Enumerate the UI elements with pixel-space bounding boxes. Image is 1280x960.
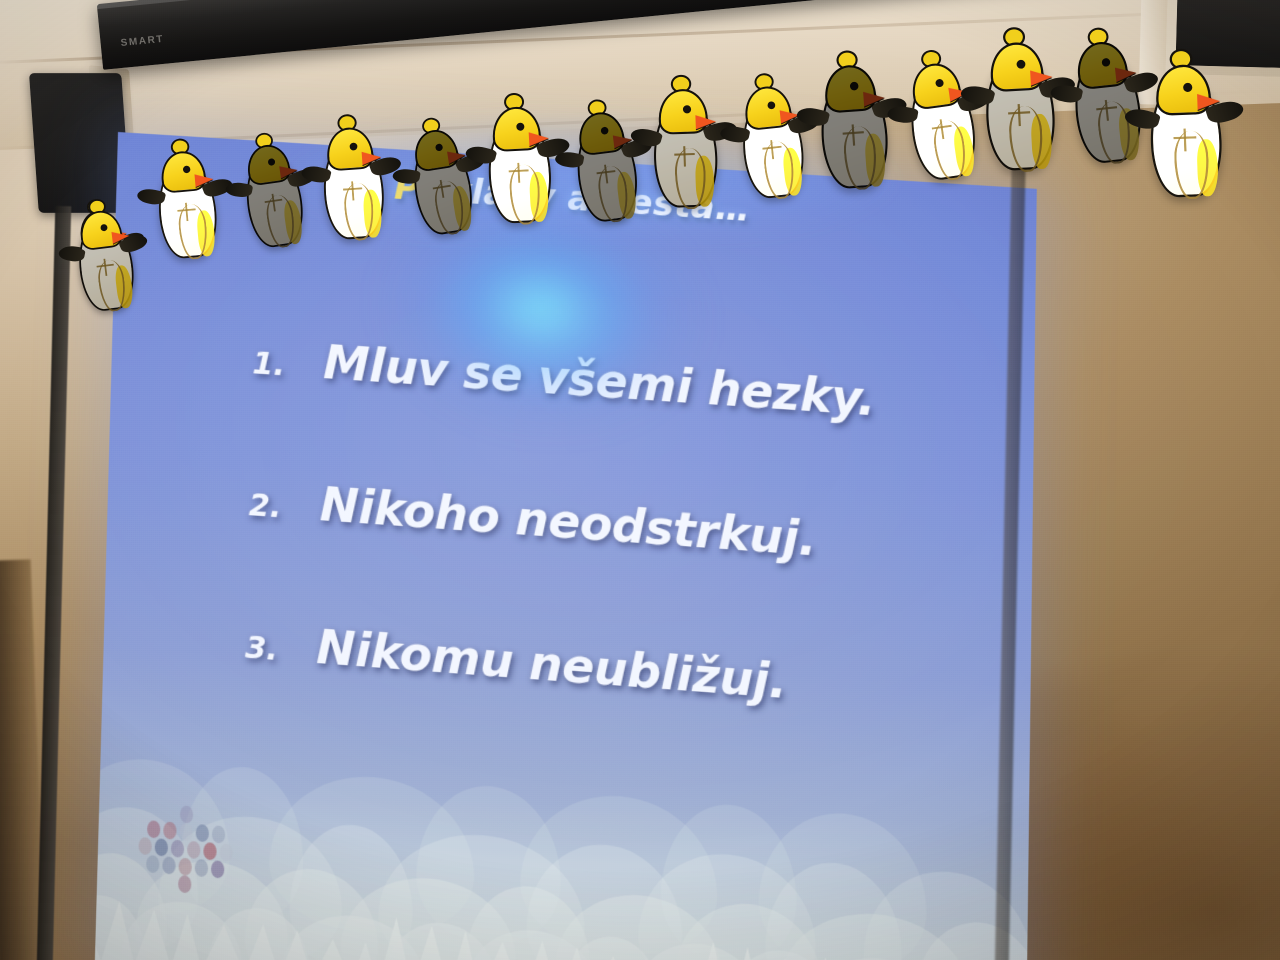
list-item-text: Nikomu neubližuj. [316,619,787,709]
cloud-blob [805,953,948,960]
logo-dot [187,841,201,859]
cloud-blob [340,872,517,960]
logo-dot [196,824,210,842]
cloud-blob [632,939,764,960]
cloud-blob [554,889,722,960]
list-item: 1. Mluv se všemi hezky. [252,330,972,433]
logo-dot [180,805,194,823]
cloud-blob [268,769,476,940]
cloud-blob [465,925,601,960]
logo-dot [171,839,185,857]
cloud-blob [758,807,928,960]
cloud-blob [637,848,817,960]
cloud-blob [244,864,380,960]
cloud-blob [289,820,415,960]
logo-dot [146,855,160,873]
logo-dot [163,821,177,839]
cloud-blob [674,898,822,960]
cloud-blob [765,858,903,960]
logo-dot [178,858,192,877]
list-item: 2. Nikoho neodstrkuj. [248,471,969,577]
ceiling-mounted-monitor [1134,0,1280,110]
slide-title-accent: Pří [394,167,449,211]
monitor-panel [1165,0,1280,77]
dot-diamond-logo [137,796,252,918]
logo-dot [219,843,233,862]
logo-dot [178,875,192,894]
cloud-blob [377,827,586,960]
logo-dot [203,842,217,860]
slide-rules-list: 1. Mluv se všemi hezky. 2. Nikoho neodst… [245,330,972,723]
logo-dot [147,820,161,838]
list-item-text: Mluv se všemi hezky. [323,335,876,427]
logo-dot [212,825,226,843]
cloud-blob [519,789,719,960]
projection-screen: Příklady a gesta… 1. Mluv se všemi hezky… [95,132,1037,960]
slide-title-rest: klady a gesta… [448,171,751,231]
cloud-blob [280,910,426,960]
logo-dot [155,838,169,856]
cloud-blob [525,839,683,960]
list-item-number: 2. [248,488,297,527]
logo-dot [195,859,209,878]
logo-dot [179,823,193,841]
presentation-slide: Příklady a gesta… 1. Mluv se všemi hezky… [95,132,1037,960]
cloud-blob [415,781,562,947]
cloud-blob [660,800,798,960]
cloud-blob [561,933,662,960]
list-item-number: 1. [252,346,301,385]
cloud-blob [726,946,838,960]
list-item-number: 3. [245,630,295,669]
cloud-blob [465,882,591,960]
classroom-photo-scene: Příklady a gesta… 1. Mluv se všemi hezky… [0,0,1280,960]
logo-dot [138,837,152,855]
logo-dot [211,860,225,879]
cloud-blob [915,918,1029,960]
cloud-blob [779,907,970,960]
logo-dot [162,856,176,874]
list-item-text: Nikoho neodstrkuj. [319,476,816,566]
list-item: 3. Nikomu neubližuj. [245,614,968,723]
cloud-blob [383,919,498,960]
board-brand-label: SMART [120,34,164,49]
